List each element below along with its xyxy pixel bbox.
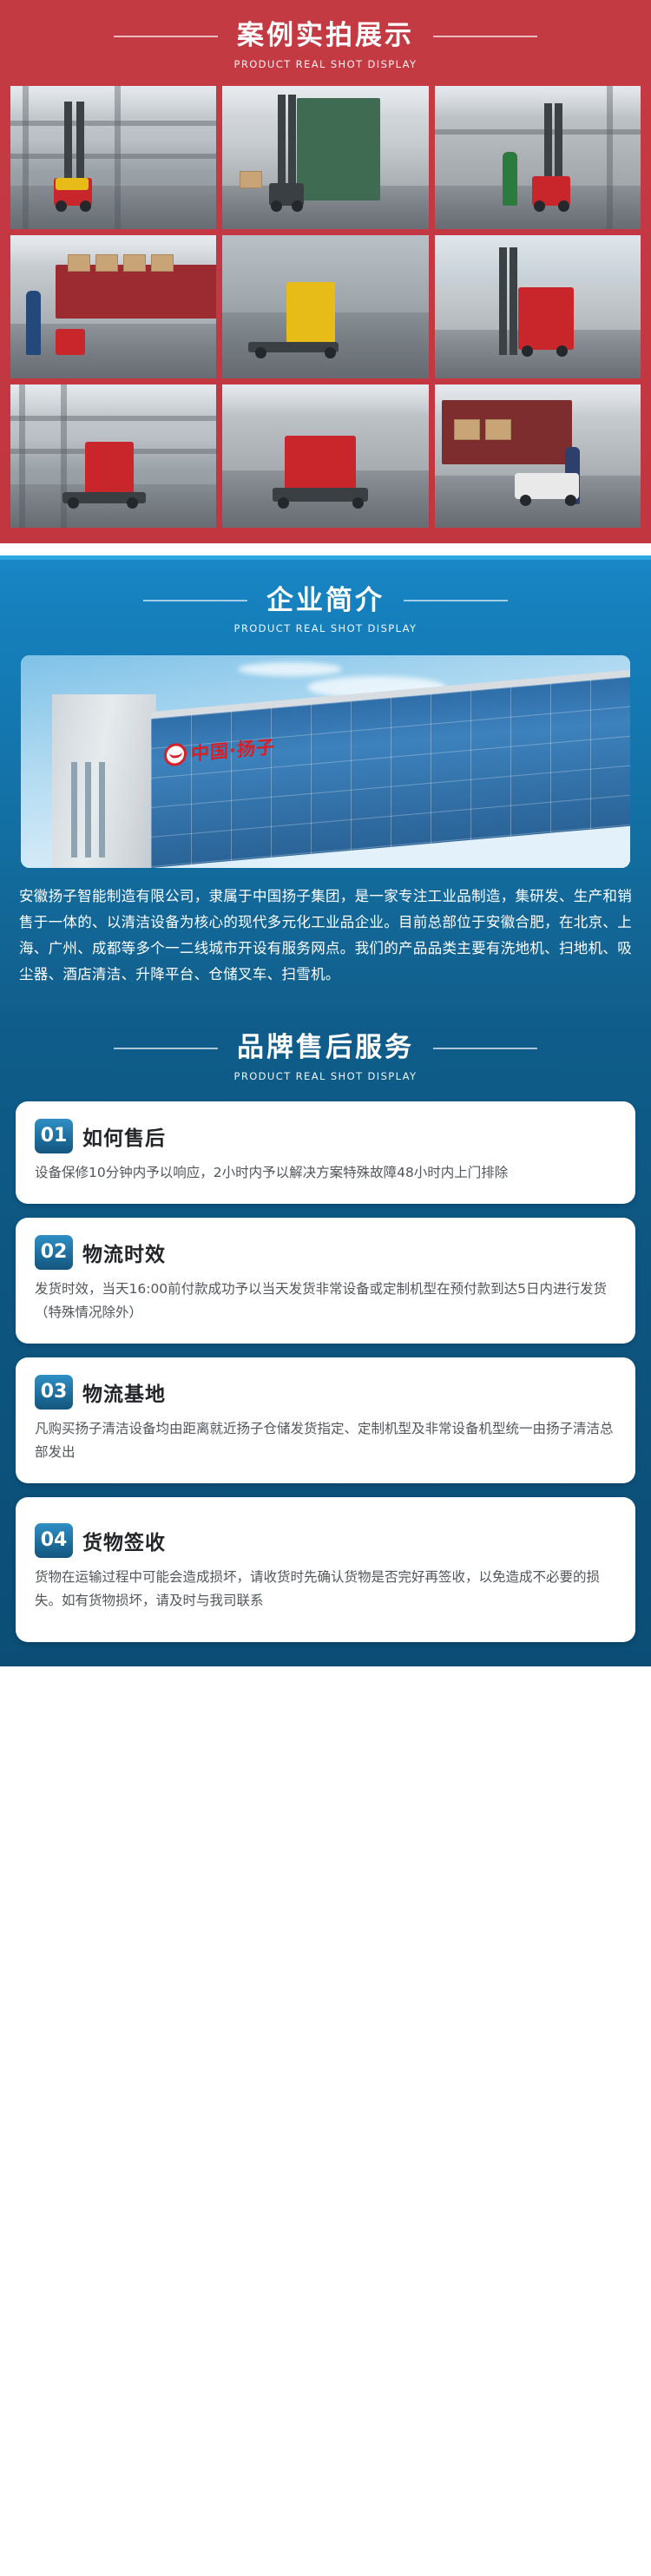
- service-card-header: 02 物流时效: [35, 1235, 616, 1270]
- case-photo-3[interactable]: [435, 86, 641, 229]
- service-card-title: 货物签收: [82, 1526, 166, 1555]
- service-card-list: 01 如何售后 设备保修10分钟内予以响应，2小时内予以解决方案特殊故障48小时…: [0, 1094, 651, 1642]
- case-photo-1[interactable]: [10, 86, 216, 229]
- company-section-title: 企业简介: [266, 586, 385, 617]
- service-title-row: 品牌售后服务: [0, 1033, 651, 1064]
- case-section-subtitle: PRODUCT REAL SHOT DISPLAY: [234, 58, 418, 70]
- case-photo-5[interactable]: [222, 235, 428, 378]
- service-card-01[interactable]: 01 如何售后 设备保修10分钟内予以响应，2小时内予以解决方案特殊故障48小时…: [16, 1101, 635, 1204]
- case-photo-2[interactable]: [222, 86, 428, 229]
- service-card-number: 01: [35, 1119, 73, 1153]
- service-card-body: 设备保修10分钟内予以响应，2小时内予以解决方案特殊故障48小时内上门排除: [35, 1161, 616, 1185]
- title-rule-right: [433, 1048, 537, 1049]
- service-card-body: 发货时效，当天16:00前付款成功予以当天发货非常设备或定制机型在预付款到达5日…: [35, 1278, 616, 1324]
- case-section-header: 案例实拍展示 PRODUCT REAL SHOT DISPLAY: [0, 0, 651, 82]
- case-showcase-section: 案例实拍展示 PRODUCT REAL SHOT DISPLAY: [0, 0, 651, 543]
- company-section-header: 企业简介 PRODUCT REAL SHOT DISPLAY: [0, 560, 651, 649]
- service-card-header: 03 物流基地: [35, 1375, 616, 1410]
- company-intro-paragraph: 安徽扬子智能制造有限公司，隶属于中国扬子集团，是一家专注工业品制造，集研发、生产…: [19, 884, 632, 988]
- company-intro-section: 企业简介 PRODUCT REAL SHOT DISPLAY 中国·扬子 安徽扬…: [0, 555, 651, 1011]
- yangzi-logo-icon: [164, 743, 187, 767]
- title-rule-left: [114, 36, 218, 37]
- case-title-row: 案例实拍展示: [0, 21, 651, 52]
- service-section-subtitle: PRODUCT REAL SHOT DISPLAY: [234, 1070, 418, 1082]
- title-rule-right: [404, 600, 508, 601]
- case-photo-6[interactable]: [435, 235, 641, 378]
- service-card-number: 02: [35, 1235, 73, 1270]
- case-photo-grid: [10, 86, 641, 528]
- service-section-title: 品牌售后服务: [237, 1033, 414, 1064]
- title-rule-right: [433, 36, 537, 37]
- case-photo-4[interactable]: [10, 235, 216, 378]
- service-card-body: 凡购买扬子清洁设备均由距离就近扬子仓储发货指定、定制机型及非常设备机型统一由扬子…: [35, 1417, 616, 1464]
- case-photo-grid-wrapper: [0, 82, 651, 543]
- case-photo-9[interactable]: [435, 384, 641, 528]
- service-card-04[interactable]: 04 货物签收 货物在运输过程中可能会造成损坏，请收货时先确认货物是否完好再签收…: [16, 1497, 635, 1642]
- company-building-photo[interactable]: 中国·扬子: [21, 655, 630, 868]
- service-card-02[interactable]: 02 物流时效 发货时效，当天16:00前付款成功予以当天发货非常设备或定制机型…: [16, 1218, 635, 1344]
- title-rule-left: [143, 600, 247, 601]
- company-title-row: 企业简介: [0, 586, 651, 617]
- service-card-header: 01 如何售后: [35, 1119, 616, 1153]
- service-card-number: 04: [35, 1523, 73, 1558]
- service-card-title: 物流基地: [82, 1377, 166, 1407]
- case-photo-8[interactable]: [222, 384, 428, 528]
- case-photo-7[interactable]: [10, 384, 216, 528]
- section-divider: [0, 543, 651, 555]
- case-section-title: 案例实拍展示: [237, 21, 414, 52]
- service-card-body: 货物在运输过程中可能会造成损坏，请收货时先确认货物是否完好再签收，以免造成不必要…: [35, 1566, 616, 1613]
- service-card-title: 物流时效: [82, 1238, 166, 1267]
- company-section-subtitle: PRODUCT REAL SHOT DISPLAY: [234, 622, 418, 634]
- service-card-title: 如何售后: [82, 1121, 166, 1151]
- after-sales-service-section: 品牌售后服务 PRODUCT REAL SHOT DISPLAY 01 如何售后…: [0, 1010, 651, 1666]
- service-card-number: 03: [35, 1375, 73, 1410]
- building-side-tower: [52, 694, 156, 868]
- service-card-03[interactable]: 03 物流基地 凡购买扬子清洁设备均由距离就近扬子仓储发货指定、定制机型及非常设…: [16, 1357, 635, 1483]
- service-section-header: 品牌售后服务 PRODUCT REAL SHOT DISPLAY: [0, 1010, 651, 1094]
- title-rule-left: [114, 1048, 218, 1049]
- service-card-header: 04 货物签收: [35, 1523, 616, 1558]
